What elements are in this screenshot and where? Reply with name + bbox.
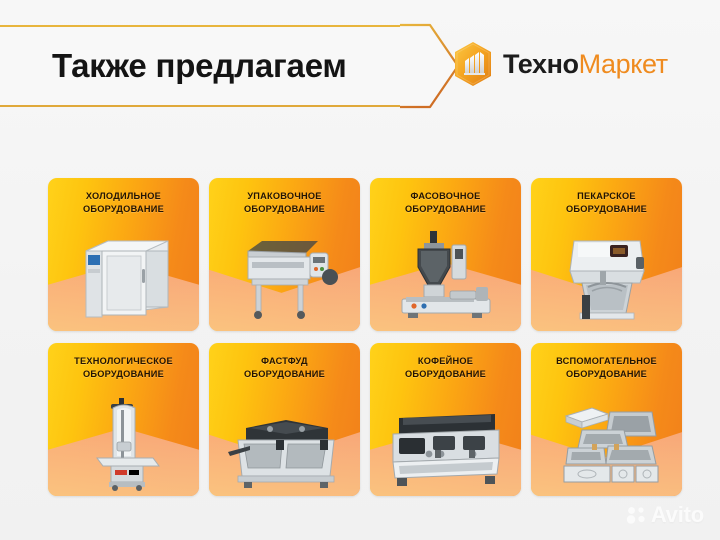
label-line-2: ОБОРУДОВАНИЕ xyxy=(376,368,515,381)
label-line-2: ОБОРУДОВАНИЕ xyxy=(54,203,193,216)
category-card-technological[interactable]: ТЕХНОЛОГИЧЕСКОЕ ОБОРУДОВАНИЕ xyxy=(48,343,199,496)
brand-logo[interactable]: ТехноМаркет xyxy=(452,40,668,88)
label-line-2: ОБОРУДОВАНИЕ xyxy=(215,203,354,216)
page-title: Также предлагаем xyxy=(52,38,412,94)
filling-machine-icon xyxy=(370,225,521,327)
label-line-2: ОБОРУДОВАНИЕ xyxy=(376,203,515,216)
category-card-filling[interactable]: ФАСОВОЧНОЕ ОБОРУДОВАНИЕ xyxy=(370,178,521,331)
label-line-1: ВСПОМОГАТЕЛЬНОЕ xyxy=(537,355,676,368)
label-line-1: ТЕХНОЛОГИЧЕСКОЕ xyxy=(54,355,193,368)
cold-room-icon xyxy=(48,225,199,327)
gastronorm-pans-icon xyxy=(531,390,682,492)
brand-name-part1: Техно xyxy=(503,49,579,79)
category-card-label: УПАКОВОЧНОЕ ОБОРУДОВАНИЕ xyxy=(215,190,354,216)
brand-name-part2: Маркет xyxy=(579,49,668,79)
category-card-label: ФАСОВОЧНОЕ ОБОРУДОВАНИЕ xyxy=(376,190,515,216)
poster-root: Также предлагаем xyxy=(0,0,720,540)
category-card-coffee[interactable]: КОФЕЙНОЕ ОБОРУДОВАНИЕ xyxy=(370,343,521,496)
label-line-2: ОБОРУДОВАНИЕ xyxy=(537,203,676,216)
category-card-label: ПЕКАРСКОЕ ОБОРУДОВАНИЕ xyxy=(537,190,676,216)
category-card-refrigeration[interactable]: ХОЛОДИЛЬНОЕ ОБОРУДОВАНИЕ xyxy=(48,178,199,331)
label-line-2: ОБОРУДОВАНИЕ xyxy=(215,368,354,381)
category-card-label: ВСПОМОГАТЕЛЬНОЕ ОБОРУДОВАНИЕ xyxy=(537,355,676,381)
espresso-machine-icon xyxy=(370,390,521,492)
spiral-dough-mixer-icon xyxy=(531,225,682,327)
category-grid: ХОЛОДИЛЬНОЕ ОБОРУДОВАНИЕ xyxy=(48,178,672,496)
category-card-label: ТЕХНОЛОГИЧЕСКОЕ ОБОРУДОВАНИЕ xyxy=(54,355,193,381)
avito-wordmark: Avito xyxy=(651,504,704,526)
avito-dots-icon xyxy=(626,506,646,524)
category-card-auxiliary[interactable]: ВСПОМОГАТЕЛЬНОЕ ОБОРУДОВАНИЕ xyxy=(531,343,682,496)
label-line-1: КОФЕЙНОЕ xyxy=(376,355,515,368)
category-card-label: ФАСТФУД ОБОРУДОВАНИЕ xyxy=(215,355,354,381)
category-row: ХОЛОДИЛЬНОЕ ОБОРУДОВАНИЕ xyxy=(48,178,672,331)
category-card-bakery[interactable]: ПЕКАРСКОЕ ОБОРУДОВАНИЕ xyxy=(531,178,682,331)
shrink-wrap-machine-icon xyxy=(209,225,360,327)
category-card-fastfood[interactable]: ФАСТФУД ОБОРУДОВАНИЕ xyxy=(209,343,360,496)
category-card-packaging[interactable]: УПАКОВОЧНОЕ ОБОРУДОВАНИЕ xyxy=(209,178,360,331)
avito-watermark: Avito xyxy=(626,504,704,526)
label-line-1: ФАСТФУД xyxy=(215,355,354,368)
deep-fryer-icon xyxy=(209,390,360,492)
label-line-2: ОБОРУДОВАНИЕ xyxy=(54,368,193,381)
label-line-1: ФАСОВОЧНОЕ xyxy=(376,190,515,203)
label-line-1: ПЕКАРСКОЕ xyxy=(537,190,676,203)
label-line-2: ОБОРУДОВАНИЕ xyxy=(537,368,676,381)
category-row: ТЕХНОЛОГИЧЕСКОЕ ОБОРУДОВАНИЕ xyxy=(48,343,672,496)
category-card-label: КОФЕЙНОЕ ОБОРУДОВАНИЕ xyxy=(376,355,515,381)
brand-wordmark: ТехноМаркет xyxy=(503,51,668,78)
label-line-1: ХОЛОДИЛЬНОЕ xyxy=(54,190,193,203)
category-card-label: ХОЛОДИЛЬНОЕ ОБОРУДОВАНИЕ xyxy=(54,190,193,216)
hexagon-factory-icon xyxy=(452,41,494,87)
band-saw-icon xyxy=(48,390,199,492)
label-line-1: УПАКОВОЧНОЕ xyxy=(215,190,354,203)
